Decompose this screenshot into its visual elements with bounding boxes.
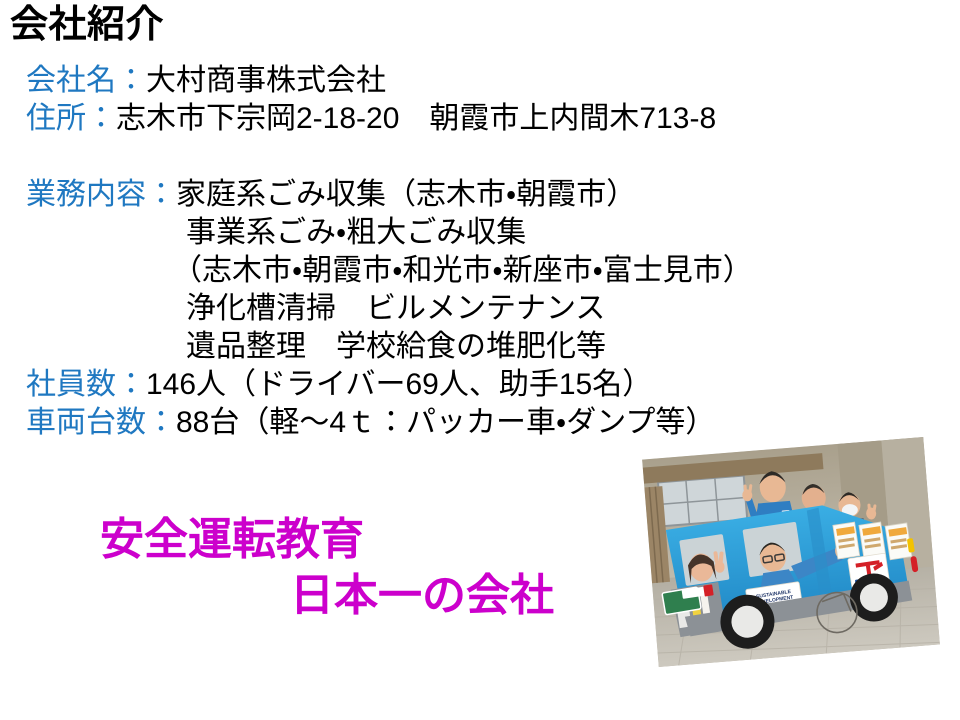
photo-illustration: SUSTAINABLE DEVELOPMENT GOALS [642, 437, 940, 667]
business-line-4: 浄化槽清掃 ビルメンテナンス [186, 292, 605, 325]
company-photo: SUSTAINABLE DEVELOPMENT GOALS [642, 437, 940, 667]
info-row-business-3: （志木市・朝霞市・和光市・新座市・富士見市） [26, 252, 936, 290]
page-title: 会社紹介 [10, 4, 164, 48]
info-row-business-1: 業務内容：家庭系ごみ収集（志木市・朝霞市） [26, 176, 936, 214]
info-row-company-name: 会社名：大村商事株式会社 [26, 62, 936, 100]
employees-label: 社員数： [26, 368, 146, 401]
info-row-vehicles: 車両台数：88台（軽〜4ｔ：パッカー車・ダンプ等） [26, 404, 936, 442]
headline-line-2: 日本一の会社 [290, 568, 554, 624]
slide-canvas: 会社紹介 会社名：大村商事株式会社 住所：志木市下宗岡2-18-20 朝霞市上内… [0, 0, 960, 720]
company-name-value: 大村商事株式会社 [146, 64, 386, 97]
business-label: 業務内容： [26, 178, 176, 211]
info-row-address: 住所：志木市下宗岡2-18-20 朝霞市上内間木713-8 [26, 100, 936, 138]
company-name-label: 会社名： [26, 64, 146, 97]
photo-image: SUSTAINABLE DEVELOPMENT GOALS [642, 437, 940, 667]
business-line-5: 遺品整理 学校給食の堆肥化等 [186, 330, 606, 363]
info-row-business-2: 事業系ごみ・粗大ごみ収集 [26, 214, 936, 252]
headline-block: 安全運転教育 日本一の会社 [100, 512, 554, 624]
company-info-block: 会社名：大村商事株式会社 住所：志木市下宗岡2-18-20 朝霞市上内間木713… [26, 62, 936, 442]
info-row-employees: 社員数：146人（ドライバー69人、助手15名） [26, 366, 936, 404]
employees-value: 146人（ドライバー69人、助手15名） [146, 368, 652, 401]
vehicles-label: 車両台数： [26, 406, 176, 439]
address-value: 志木市下宗岡2-18-20 朝霞市上内間木713-8 [116, 102, 716, 135]
info-row-business-5: 遺品整理 学校給食の堆肥化等 [26, 328, 936, 366]
business-line-3: （志木市・朝霞市・和光市・新座市・富士見市） [172, 254, 753, 287]
vehicles-value: 88台（軽〜4ｔ：パッカー車・ダンプ等） [176, 406, 715, 439]
address-label: 住所： [26, 102, 116, 135]
headline-line-1: 安全運転教育 [100, 515, 364, 564]
info-row-business-4: 浄化槽清掃 ビルメンテナンス [26, 290, 936, 328]
spacer-row [26, 138, 936, 176]
business-line-2: 事業系ごみ・粗大ごみ収集 [186, 216, 526, 249]
business-line-1: 家庭系ごみ収集（志木市・朝霞市） [176, 178, 636, 211]
